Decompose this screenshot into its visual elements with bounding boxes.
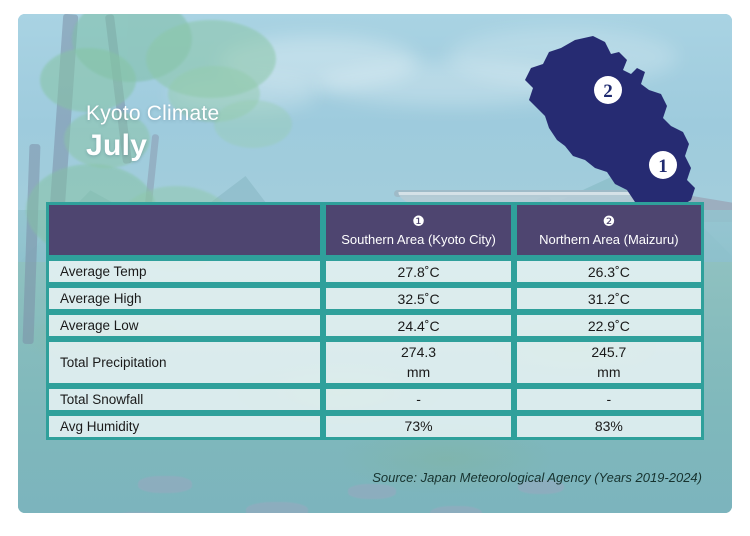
value-unit: mm [337, 362, 499, 382]
row-label: Avg Humidity [46, 413, 323, 440]
row-value-south: 27.8˚C [323, 258, 513, 285]
kyoto-map: 2 1 [515, 28, 725, 223]
row-value-north: 26.3˚C [514, 258, 704, 285]
value-unit: mm [528, 362, 690, 382]
table-header-row: ❶ Southern Area (Kyoto City) ❷ Northern … [46, 202, 704, 258]
table-header-north: ❷ Northern Area (Maizuru) [514, 202, 704, 258]
table-row: Average High 32.5˚C 31.2˚C [46, 285, 704, 312]
stepping-stone [430, 506, 482, 513]
foliage-shape [214, 100, 292, 148]
map-marker-1-label: 1 [658, 156, 668, 177]
climate-card: Kyoto Climate July 2 1 ❶ [18, 14, 732, 513]
table-row: Average Temp 27.8˚C 26.3˚C [46, 258, 704, 285]
column-title-south: Southern Area (Kyoto City) [337, 232, 499, 247]
table-header: ❶ Southern Area (Kyoto City) ❷ Northern … [46, 202, 704, 258]
badge-2-icon: ❷ [528, 214, 690, 230]
row-value-south: - [323, 386, 513, 413]
row-label: Average Low [46, 312, 323, 339]
subtitle: Kyoto Climate [86, 102, 219, 125]
row-label: Average High [46, 285, 323, 312]
row-value-north: - [514, 386, 704, 413]
table-row: Total Snowfall - - [46, 386, 704, 413]
page-title: July [86, 130, 219, 162]
value-number: 274.3 [401, 344, 436, 360]
column-title-north: Northern Area (Maizuru) [528, 232, 690, 247]
stepping-stone [138, 476, 192, 493]
row-value-north: 22.9˚C [514, 312, 704, 339]
row-value-south: 73% [323, 413, 513, 440]
infographic-stage: Kyoto Climate July 2 1 ❶ [0, 0, 750, 536]
map-svg: 2 1 [515, 28, 725, 223]
climate-table: ❶ Southern Area (Kyoto City) ❷ Northern … [46, 202, 704, 440]
kyoto-prefecture-shape [525, 36, 695, 222]
row-value-south: 32.5˚C [323, 285, 513, 312]
row-value-north: 245.7 mm [514, 339, 704, 386]
row-value-south: 274.3 mm [323, 339, 513, 386]
row-label: Average Temp [46, 258, 323, 285]
table-row: Avg Humidity 73% 83% [46, 413, 704, 440]
table-row: Total Precipitation 274.3 mm 245.7 mm [46, 339, 704, 386]
map-marker-2-label: 2 [603, 81, 613, 102]
badge-1-icon: ❶ [337, 214, 499, 230]
stepping-stone [348, 484, 396, 499]
row-label: Total Snowfall [46, 386, 323, 413]
table-header-blank [46, 202, 323, 258]
table-header-south: ❶ Southern Area (Kyoto City) [323, 202, 513, 258]
row-label: Total Precipitation [46, 339, 323, 386]
source-caption: Source: Japan Meteorological Agency (Yea… [372, 470, 702, 485]
title-block: Kyoto Climate July [86, 102, 219, 162]
table-body: Average Temp 27.8˚C 26.3˚C Average High … [46, 258, 704, 440]
stepping-stone [246, 502, 308, 513]
row-value-north: 31.2˚C [514, 285, 704, 312]
row-value-south: 24.4˚C [323, 312, 513, 339]
value-number: 245.7 [591, 344, 626, 360]
row-value-north: 83% [514, 413, 704, 440]
table-row: Average Low 24.4˚C 22.9˚C [46, 312, 704, 339]
